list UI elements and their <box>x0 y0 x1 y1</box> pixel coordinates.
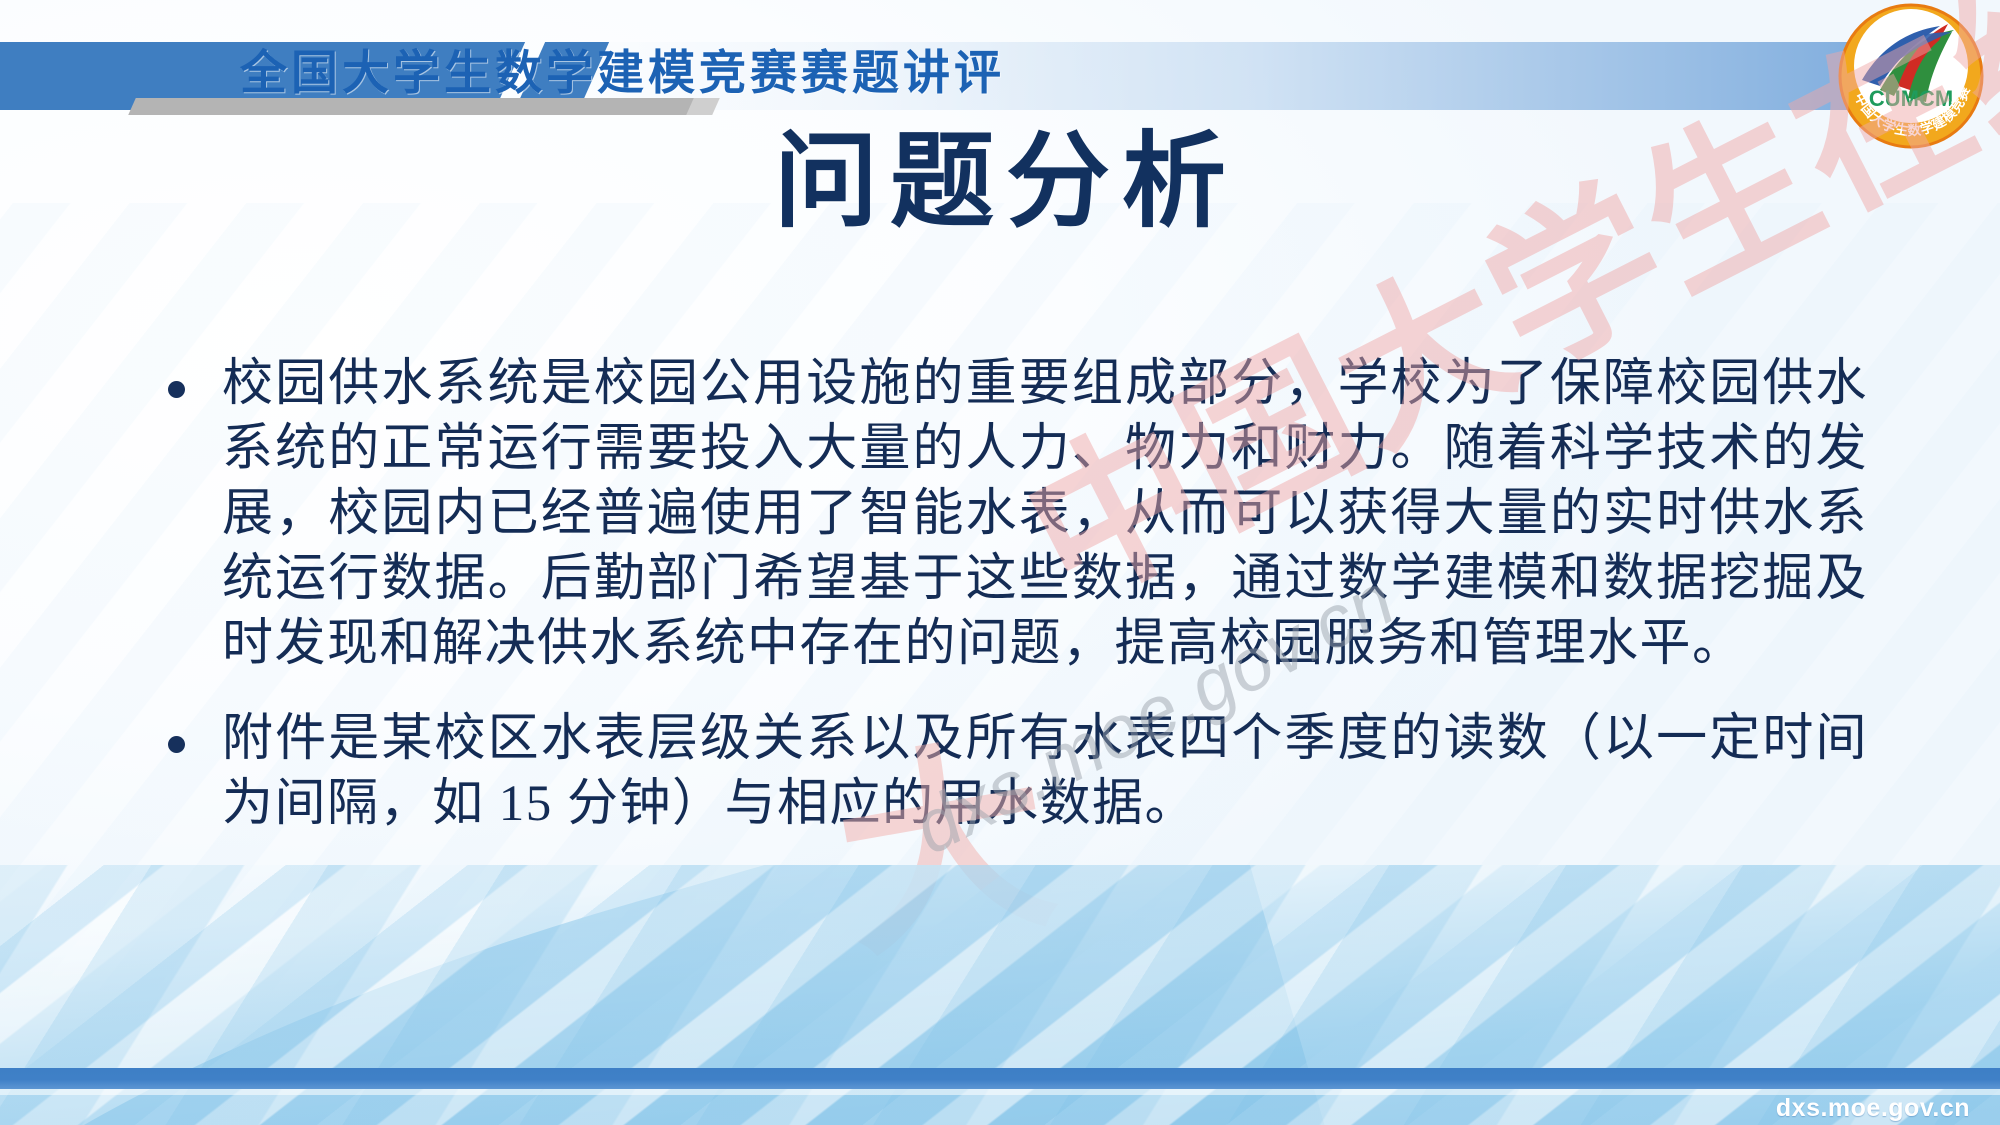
bullet-marker-icon <box>168 707 222 759</box>
footer-url: dxs.moe.gov.cn <box>1776 1094 1970 1123</box>
slide-footer: dxs.moe.gov.cn <box>0 865 2000 1125</box>
list-item: 校园供水系统是校园公用设施的重要组成部分，学校为了保障校园供水系统的正常运行需要… <box>168 352 1868 677</box>
bullet-marker-icon <box>168 352 222 404</box>
cumcm-logo-wordmark: CUMCM <box>1869 86 1953 111</box>
header-title: 全国大学生数学建模竞赛赛题讲评 <box>240 36 1005 112</box>
bullet-text: 校园供水系统是校园公用设施的重要组成部分，学校为了保障校园供水系统的正常运行需要… <box>222 352 1868 677</box>
slide-canvas: 全国大学生数学建模竞赛赛题讲评 CUMCM 中国大学生数学建模竞赛 <box>0 0 2000 1125</box>
footer-bar-highlight <box>0 1089 2000 1095</box>
list-item: 附件是某校区水表层级关系以及所有水表四个季度的读数（以一定时间为间隔，如 15 … <box>168 707 1868 837</box>
bullet-text: 附件是某校区水表层级关系以及所有水表四个季度的读数（以一定时间为间隔，如 15 … <box>222 707 1868 837</box>
footer-accent-bar <box>0 1068 2000 1089</box>
page-title: 问题分析 <box>0 118 2000 248</box>
slide-header: 全国大学生数学建模竞赛赛题讲评 <box>0 0 2000 132</box>
body-content: 校园供水系统是校园公用设施的重要组成部分，学校为了保障校园供水系统的正常运行需要… <box>168 352 1868 837</box>
